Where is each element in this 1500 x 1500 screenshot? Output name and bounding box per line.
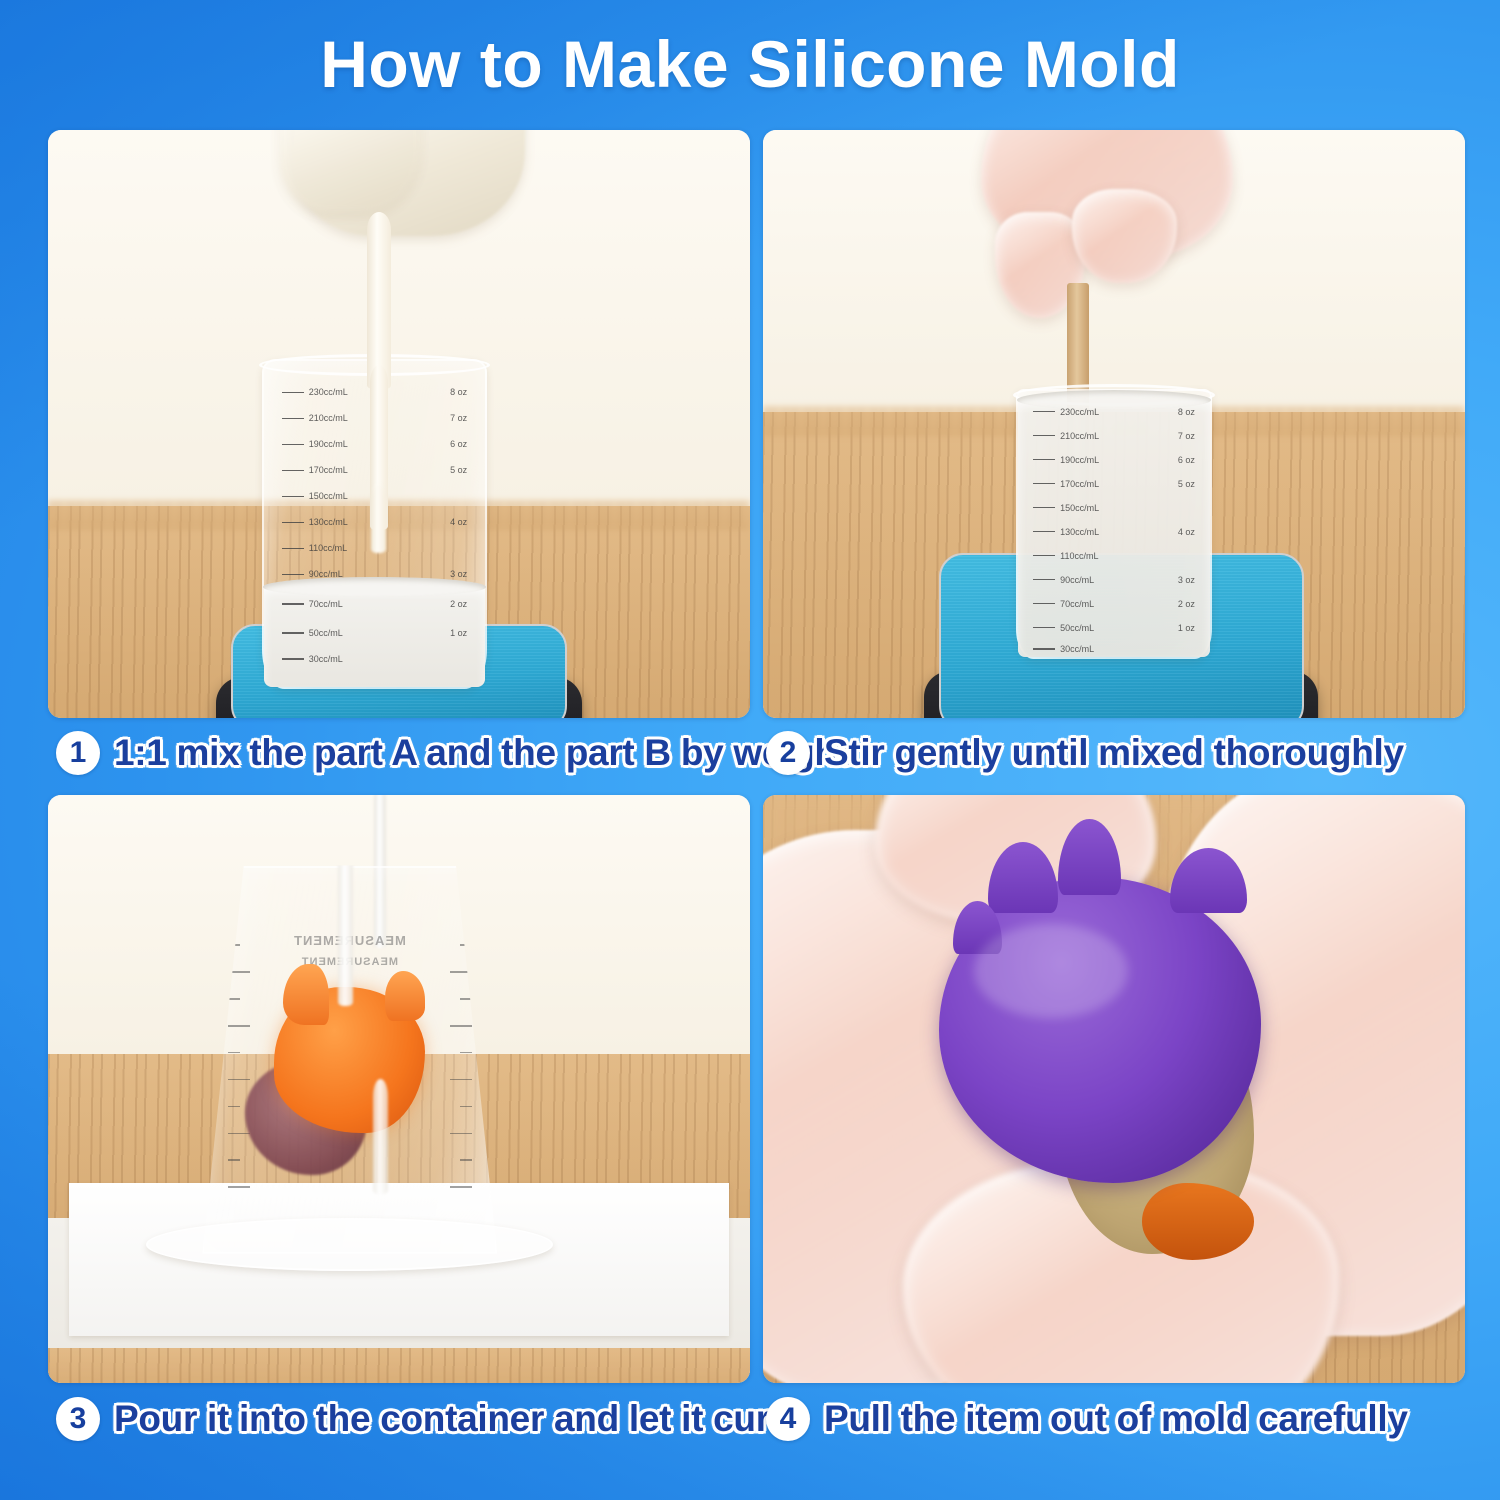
step-3-badge: 3 — [56, 1397, 100, 1441]
page-title: How to Make Silicone Mold — [0, 26, 1500, 102]
step-3-caption-text: Pour it into the container and let it cu… — [114, 1398, 790, 1440]
step-4-badge: 4 — [766, 1397, 810, 1441]
step-4-photo — [763, 795, 1465, 1383]
step-3-photo: MEASUREMENT MEASUREMENT — [48, 795, 750, 1383]
step-4-caption-text: Pull the item out of mold carefully — [824, 1398, 1408, 1440]
step-2-caption: 2 Stir gently until mixed thoroughly — [766, 722, 1404, 784]
step-4-caption: 4 Pull the item out of mold carefully — [766, 1388, 1408, 1450]
step-2-badge: 2 — [766, 731, 810, 775]
step-1-caption-text: 1:1 mix the part A and the part B by wei… — [114, 732, 849, 774]
step-2-caption-text: Stir gently until mixed thoroughly — [824, 732, 1404, 774]
step-1-badge: 1 — [56, 731, 100, 775]
step-1-caption: 1 1:1 mix the part A and the part B by w… — [56, 722, 849, 784]
infographic-root: How to Make Silicone Mold 230cc/mL8 oz 2… — [0, 0, 1500, 1500]
step-2-photo: 230cc/mL8 oz 210cc/mL7 oz 190cc/mL6 oz 1… — [763, 130, 1465, 718]
cup-graduations: 230cc/mL8 oz 210cc/mL7 oz 190cc/mL6 oz 1… — [1018, 391, 1211, 657]
step-1-photo: 230cc/mL8 oz 210cc/mL7 oz 190cc/mL6 oz 1… — [48, 130, 750, 718]
step-3-caption: 3 Pour it into the container and let it … — [56, 1388, 790, 1450]
